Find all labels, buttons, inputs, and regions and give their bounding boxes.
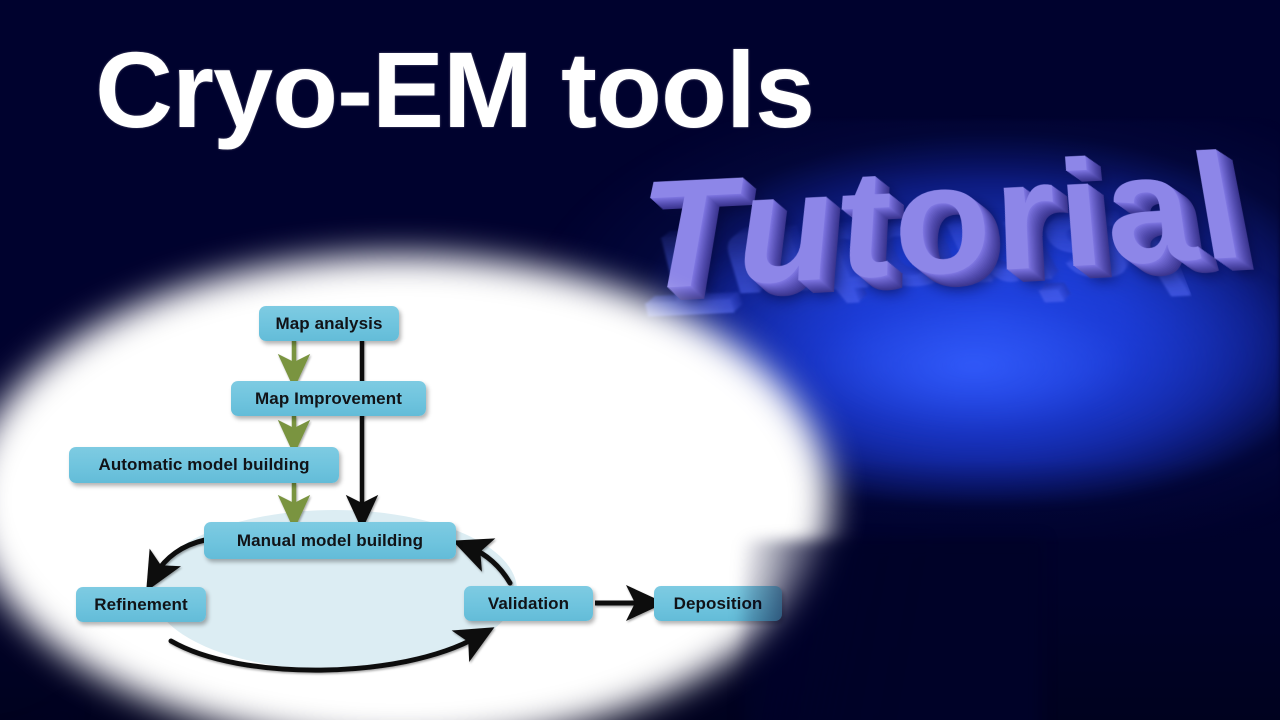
node-refinement[interactable]: Refinement <box>76 587 206 622</box>
workflow-diagram: Map analysis Map Improvement Automatic m… <box>0 0 1280 720</box>
arrow-manual-to-refinement <box>156 540 205 574</box>
slide-canvas: Tutorial Tutorial Cryo-EM tools <box>0 0 1280 720</box>
arrow-validation-to-manual <box>471 548 510 583</box>
node-automatic-model-building[interactable]: Automatic model building <box>69 447 339 483</box>
arrow-refinement-to-validation <box>171 637 477 670</box>
node-manual-model-building[interactable]: Manual model building <box>204 522 456 559</box>
node-map-analysis[interactable]: Map analysis <box>259 306 399 341</box>
node-validation[interactable]: Validation <box>464 586 593 621</box>
node-deposition[interactable]: Deposition <box>654 586 782 621</box>
node-map-improvement[interactable]: Map Improvement <box>231 381 426 416</box>
